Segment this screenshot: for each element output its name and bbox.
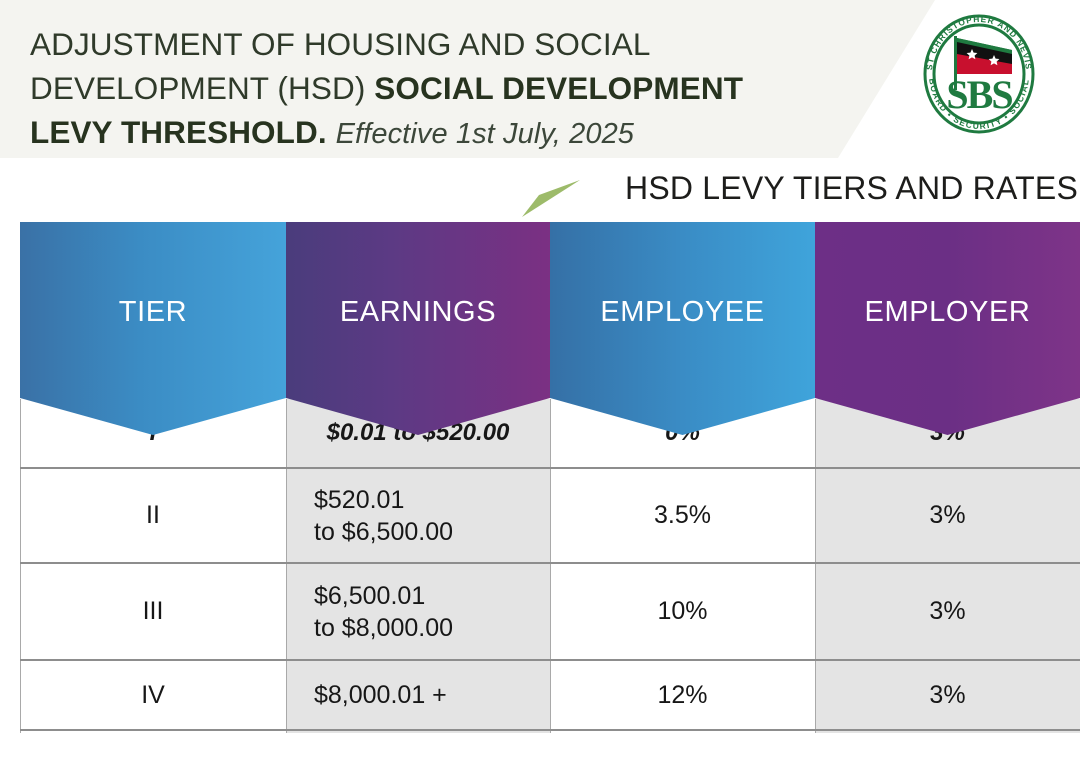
svg-text:SBS: SBS [946,72,1012,117]
levy-tiers-table: I $0.01 to $520.00 0% 3% II $520.01 to $… [0,222,1080,734]
cell-earnings: $520.01 to $6,500.00 [286,469,550,562]
column-header-employer-label: EMPLOYER [865,296,1031,329]
column-header-earnings[interactable]: EARNINGS [286,222,550,435]
cell-tier: III [20,564,286,659]
column-header-employer[interactable]: EMPLOYER [815,222,1080,435]
table-rows: I $0.01 to $520.00 0% 3% II $520.01 to $… [20,399,1080,733]
title-line-3-strong: LEVY THRESHOLD. [30,114,327,150]
cell-employee: 10% [550,564,815,659]
ssb-logo: ▪ ST CHRISTOPHER AND NEVIS ▪ BOARD ▪ SEC… [916,8,1042,138]
table-row[interactable]: IV $8,000.01 + 12% 3% [20,661,1080,731]
table-row[interactable]: II $520.01 to $6,500.00 3.5% 3% [20,469,1080,564]
title-line-2-strong: SOCIAL DEVELOPMENT [374,70,743,106]
cell-employer: 3% [815,469,1080,562]
column-header-tier-label: TIER [119,296,187,329]
infographic-page: ADJUSTMENT OF HOUSING AND SOCIAL DEVELOP… [0,0,1080,767]
title-line-2-plain: DEVELOPMENT (HSD) [30,70,374,106]
cell-employee: 12% [550,661,815,729]
cell-earnings-line-1: $520.01 [314,486,404,514]
cell-earnings-line-2: to $8,000.00 [314,614,453,642]
cell-earnings: $8,000.01 + [286,661,550,729]
cell-earnings-line-2: to $6,500.00 [314,518,453,546]
title-line-1: ADJUSTMENT OF HOUSING AND SOCIAL [30,26,650,62]
cell-tier: II [20,469,286,562]
section-header: HSD LEVY TIERS AND RATES [0,170,1080,220]
column-header-employee-label: EMPLOYEE [600,296,764,329]
table-row[interactable]: III $6,500.01 to $8,000.00 10% 3% [20,564,1080,661]
cell-employee: 3.5% [550,469,815,562]
cell-employer: 3% [815,661,1080,729]
effective-date: Effective 1st July, 2025 [336,118,634,150]
cell-earnings-line-1: $8,000.01 + [314,679,447,711]
column-header-earnings-label: EARNINGS [340,296,496,329]
green-arrow-icon [508,174,584,224]
table-header-row: TIER EARNINGS EMPLOYEE EMPLOYER [0,222,1080,435]
cell-earnings: $6,500.01 to $8,000.00 [286,564,550,659]
cell-tier: IV [20,661,286,729]
section-title: HSD LEVY TIERS AND RATES [625,170,1078,207]
column-header-employee[interactable]: EMPLOYEE [550,222,815,435]
page-title: ADJUSTMENT OF HOUSING AND SOCIAL DEVELOP… [30,22,870,156]
cell-earnings-line-1: $6,500.01 [314,582,425,610]
column-header-tier[interactable]: TIER [20,222,286,435]
cell-employer: 3% [815,564,1080,659]
